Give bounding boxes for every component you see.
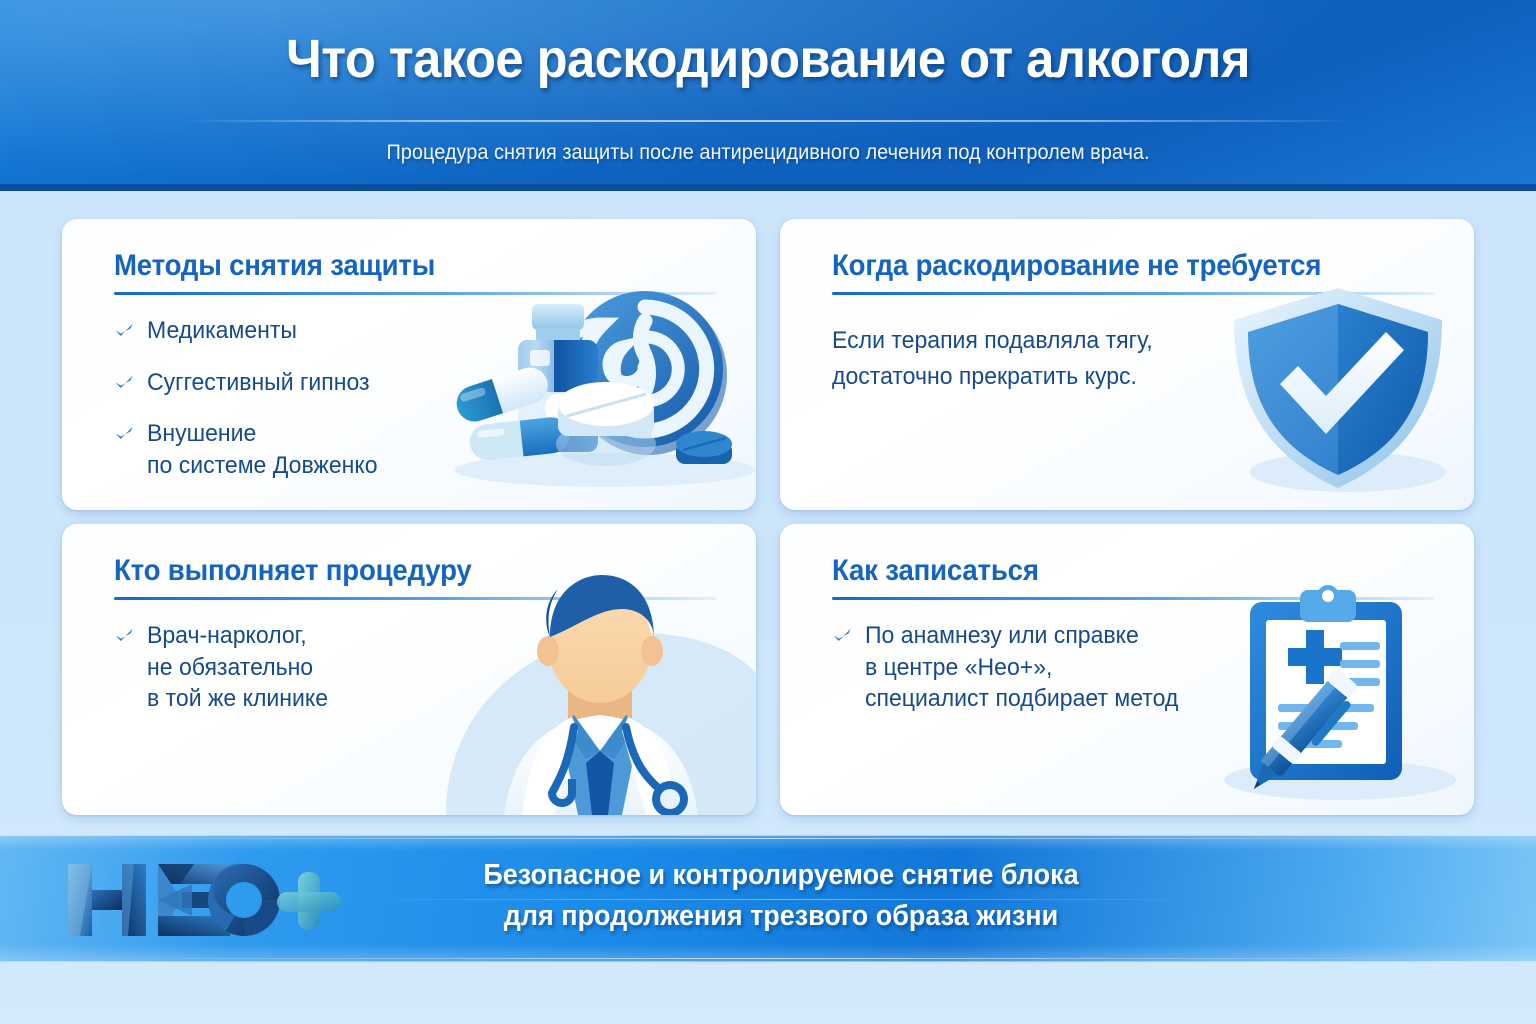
card-body: Если терапия подавляла тягу,достаточно п… xyxy=(832,323,1252,396)
check-icon xyxy=(832,626,852,646)
card-title: Кто выполняет процедуру xyxy=(114,554,668,588)
list-item: Внушениепо системе Довженко xyxy=(114,418,514,481)
page-title: Что такое раскодирование от алкоголя xyxy=(46,28,1490,90)
card-title: Когда раскодирование не требуется xyxy=(832,249,1386,283)
card-header: Когда раскодирование не требуется xyxy=(832,249,1434,295)
footer-tagline-line-2: для продолжения трезвого образа жизни xyxy=(386,896,1177,937)
card-title: Методы снятия защиты xyxy=(114,249,668,283)
list-item: Медикаменты xyxy=(114,315,514,347)
footer-tagline: Безопасное и контролируемое снятие блока… xyxy=(386,855,1177,937)
list-item-label: Врач-нарколог,не обязательнов той же кли… xyxy=(147,620,328,715)
check-icon xyxy=(114,626,134,646)
check-icon xyxy=(114,321,134,341)
card-body: По анамнезу или справкев центре «Нео+»,с… xyxy=(832,620,1252,715)
logo-letter-n xyxy=(68,864,146,936)
card-grid: Методы снятия защиты Медикаменты Суггест… xyxy=(62,219,1474,815)
card-header: Кто выполняет процедуру xyxy=(114,554,716,600)
page-subtitle: Процедура снятия защиты после антирециди… xyxy=(38,141,1497,165)
card-who-performs[interactable]: Кто выполняет процедуру Врач-нарколог,не… xyxy=(62,524,756,815)
card-paragraph: Если терапия подавляла тягу,достаточно п… xyxy=(832,323,1235,396)
card-header: Методы снятия защиты xyxy=(114,249,716,295)
list-item-label: Суггестивный гипноз xyxy=(147,367,370,399)
title-underline xyxy=(832,292,1434,295)
card-body: Врач-нарколог,не обязательнов той же кли… xyxy=(114,620,444,715)
footer-tagline-line-1: Безопасное и контролируемое снятие блока xyxy=(386,855,1177,896)
list-item: Суггестивный гипноз xyxy=(114,367,514,399)
card-title: Как записаться xyxy=(832,554,1386,588)
infographic-poster: Что такое раскодирование от алкоголя Про… xyxy=(0,0,1536,1024)
list-item-label: По анамнезу или справкев центре «Нео+»,с… xyxy=(865,620,1178,715)
header-banner: Что такое раскодирование от алкоголя Про… xyxy=(0,0,1536,191)
list-item: По анамнезу или справкев центре «Нео+»,с… xyxy=(832,620,1252,715)
check-icon xyxy=(114,373,134,393)
title-underline xyxy=(114,292,716,295)
shield-with-check-illustration xyxy=(1220,276,1460,506)
logo-plus-icon xyxy=(277,872,341,930)
title-underline xyxy=(114,597,716,600)
brand-logo[interactable] xyxy=(62,854,352,946)
check-icon xyxy=(114,424,134,444)
card-header: Как записаться xyxy=(832,554,1434,600)
list-item: Врач-нарколог,не обязательнов той же кли… xyxy=(114,620,444,715)
card-methods[interactable]: Методы снятия защиты Медикаменты Суггест… xyxy=(62,219,756,510)
card-body: Медикаменты Суггестивный гипноз Внушение… xyxy=(114,315,514,482)
card-when-not-needed[interactable]: Когда раскодирование не требуется Если т… xyxy=(780,219,1474,510)
card-how-to-book[interactable]: Как записаться По анамнезу или справкев … xyxy=(780,524,1474,815)
logo-letter-o xyxy=(208,864,280,936)
list-item-label: Внушениепо системе Довженко xyxy=(147,418,378,481)
list-item-label: Медикаменты xyxy=(147,315,297,347)
header-divider xyxy=(180,120,1356,122)
footer-banner: Безопасное и контролируемое снятие блока… xyxy=(0,835,1536,962)
title-underline xyxy=(832,597,1434,600)
